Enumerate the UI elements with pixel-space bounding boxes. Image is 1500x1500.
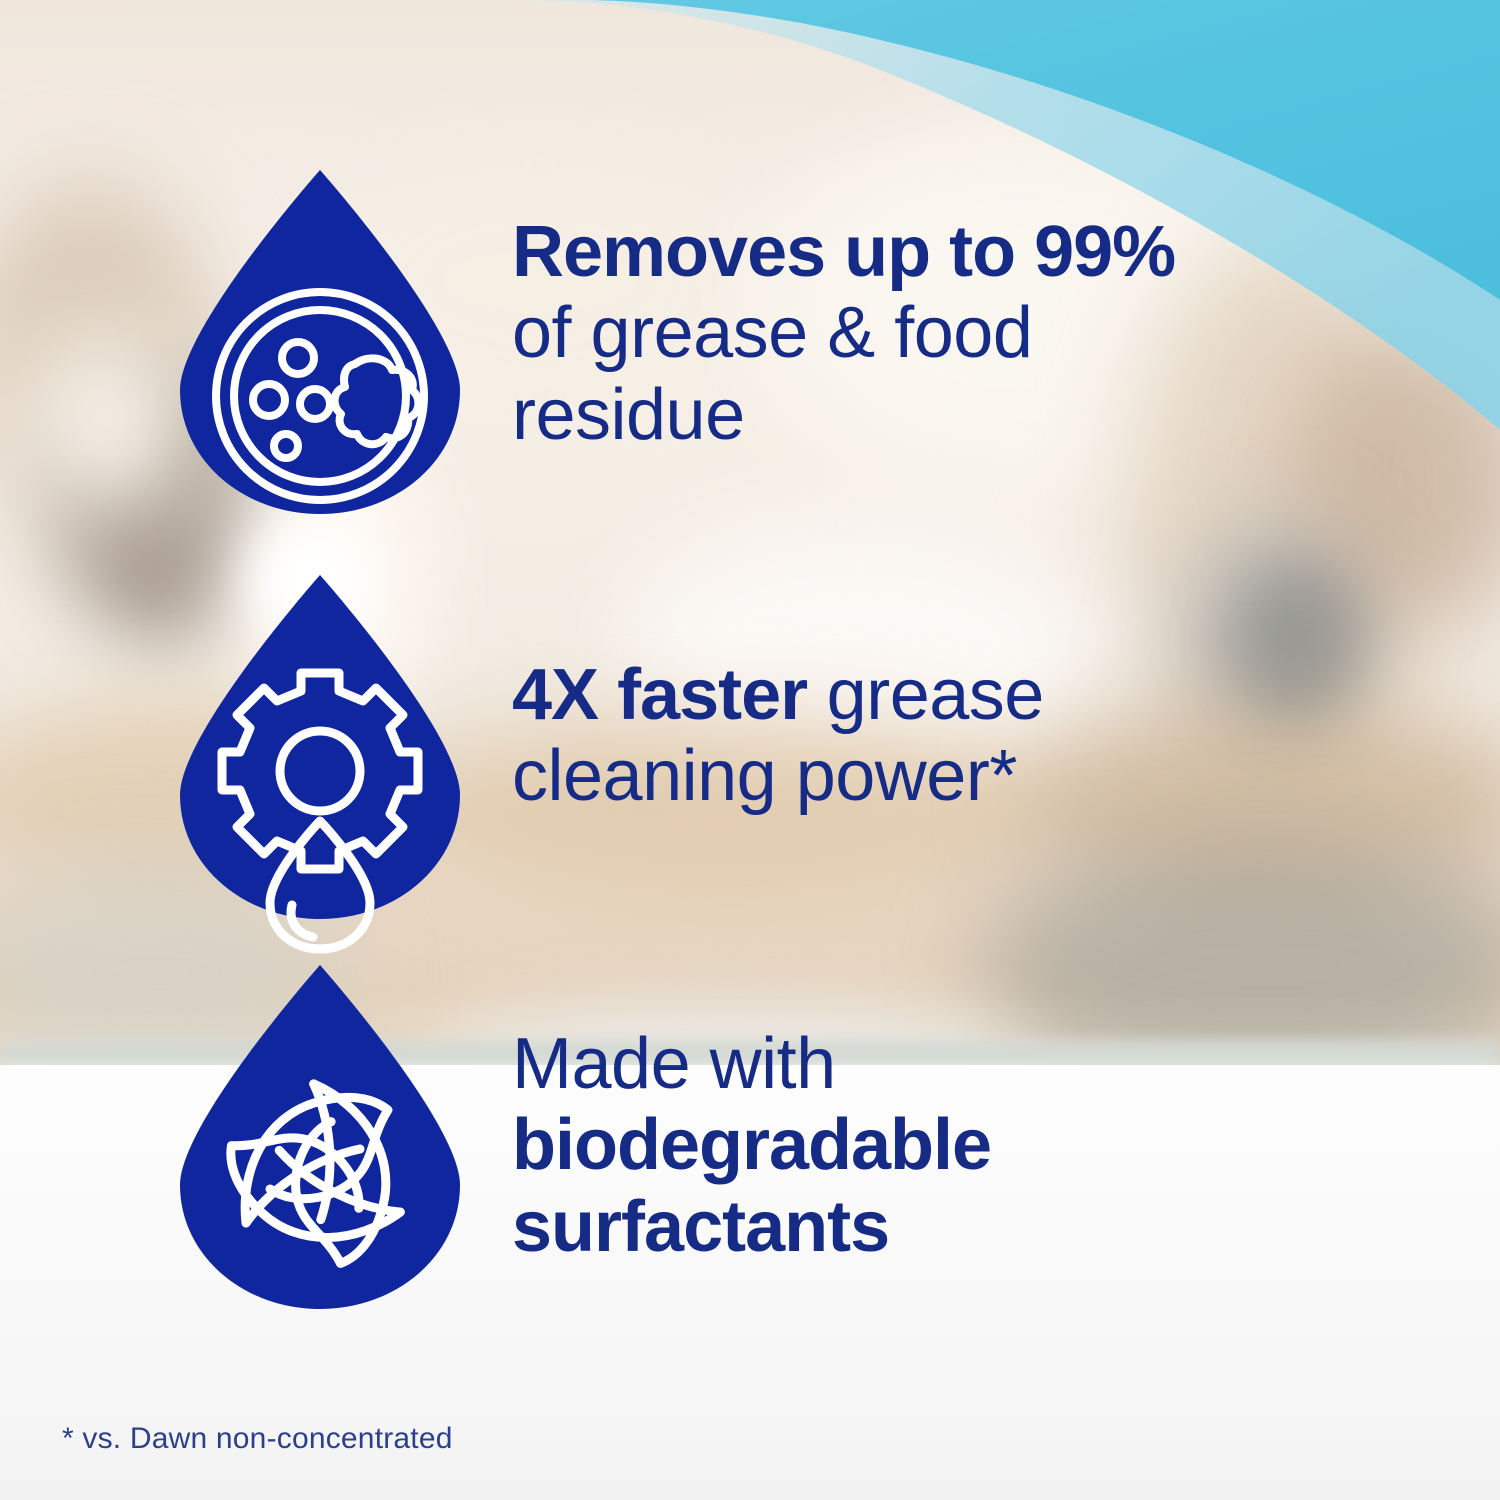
feature-2-headline: 4X faster [512,655,807,735]
footnote-disclaimer: * vs. Dawn non-concentrated [62,1422,453,1456]
feature-text-3: Made with biodegradable surfactants [512,1024,1212,1268]
promo-panel: Removes up to 99% of grease & food resid… [0,0,1500,1500]
feature-1-subtext: of grease & food residue [512,293,1032,454]
feature-icon-gear-droplet [174,573,466,921]
feature-1-headline: Removes up to 99% [512,212,1175,292]
feature-3-subtext: Made with [512,1024,836,1104]
feature-icon-plate-bubbles [174,168,466,516]
feature-3-headline: biodegradable surfactants [512,1105,991,1266]
feature-text-1: Removes up to 99% of grease & food resid… [512,212,1212,456]
water-drop-shape [180,170,460,514]
feature-icon-leaves-recycle [174,963,466,1311]
water-drop-shape [180,965,460,1309]
feature-text-2: 4X faster grease cleaning power* [512,655,1212,818]
